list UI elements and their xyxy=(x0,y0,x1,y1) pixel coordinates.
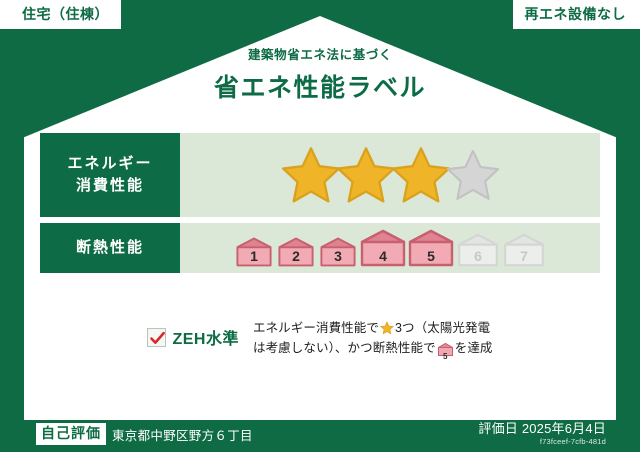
insulation-grade-number: 3 xyxy=(318,249,358,263)
energy-performance-value xyxy=(180,133,600,217)
evaluation-date-label: 評価日 xyxy=(478,421,518,436)
performance-rows: エネルギー 消費性能 断熱性能 1234567 xyxy=(40,133,600,279)
zeh-checkbox[interactable] xyxy=(147,328,166,347)
energy-label-line1: エネルギー xyxy=(67,153,152,175)
insulation-grade-number: 6 xyxy=(456,249,500,263)
insulation-grade-number: 4 xyxy=(360,249,406,263)
zeh-section: ZEH水準 エネルギー消費性能で3つ（太陽光発電 は考慮しない）、かつ断熱性能で… xyxy=(40,318,600,363)
renewable-energy-tag: 再エネ設備なし xyxy=(513,0,640,29)
evaluation-date-value: 2025年6月4日 xyxy=(522,421,606,436)
insulation-grade-number: 1 xyxy=(234,249,274,263)
energy-performance-row: エネルギー 消費性能 xyxy=(40,133,600,217)
zeh-description-line1: エネルギー消費性能で3つ（太陽光発電 xyxy=(253,318,493,338)
insulation-label-line1: 断熱性能 xyxy=(76,237,144,259)
energy-label-line2: 消費性能 xyxy=(76,175,144,197)
zeh-label: ZEH水準 xyxy=(172,325,239,349)
insulation-grade-5: 5 xyxy=(408,229,454,267)
star-filled-icon xyxy=(280,144,342,206)
building-type-tag: 住宅（住棟） xyxy=(0,0,121,29)
zeh-description: エネルギー消費性能で3つ（太陽光発電 は考慮しない）、かつ断熱性能で5を達成 xyxy=(253,318,493,363)
evaluation-date: 評価日 2025年6月4日 xyxy=(478,422,606,437)
zeh-desc-text-b: 3つ（太陽光発電 xyxy=(395,321,490,335)
zeh-title-group: ZEH水準 xyxy=(147,318,239,349)
inline-house-icon: 5 xyxy=(438,342,453,362)
insulation-grade-4: 4 xyxy=(360,229,406,267)
energy-performance-label: エネルギー 消費性能 xyxy=(40,133,180,217)
insulation-grade-number: 5 xyxy=(408,249,454,263)
insulation-grade-3: 3 xyxy=(318,237,358,267)
check-icon xyxy=(149,330,166,347)
title-subtitle: 建築物省エネ法に基づく xyxy=(0,44,640,63)
insulation-grade-7: 7 xyxy=(502,233,546,267)
star-empty-icon xyxy=(445,147,501,203)
insulation-grade-number: 2 xyxy=(276,249,316,263)
insulation-performance-row: 断熱性能 1234567 xyxy=(40,223,600,273)
insulation-grade-1: 1 xyxy=(234,237,274,267)
insulation-grade-2: 2 xyxy=(276,237,316,267)
property-address: 東京都中野区野方６丁目 xyxy=(112,425,253,444)
star-rating xyxy=(280,144,501,206)
zeh-desc-text-c: は考慮しない）、かつ断熱性能で xyxy=(253,341,436,355)
star-filled-icon xyxy=(390,144,452,206)
insulation-grade-scale: 1234567 xyxy=(234,229,546,267)
insulation-grade-number: 7 xyxy=(502,249,546,263)
evaluation-id: f73fceef-7cfb-481d xyxy=(478,438,606,447)
zeh-desc-text-a: エネルギー消費性能で xyxy=(253,321,379,335)
zeh-description-line2: は考慮しない）、かつ断熱性能で5を達成 xyxy=(253,338,493,362)
star-icon xyxy=(380,321,394,335)
zeh-desc-text-d: を達成 xyxy=(455,341,493,355)
insulation-grade-6: 6 xyxy=(456,233,500,267)
page-title: 省エネ性能ラベル xyxy=(0,68,640,104)
label-title-block: 建築物省エネ法に基づく 省エネ性能ラベル xyxy=(0,44,640,104)
star-filled-icon xyxy=(335,144,397,206)
evaluation-meta: 評価日 2025年6月4日 f73fceef-7cfb-481d xyxy=(478,422,606,447)
inline-house-grade: 5 xyxy=(438,353,453,361)
insulation-performance-label: 断熱性能 xyxy=(40,223,180,273)
label-footer: 自己評価 東京都中野区野方６丁目 評価日 2025年6月4日 f73fceef-… xyxy=(0,416,640,452)
self-evaluation-badge: 自己評価 xyxy=(36,423,106,444)
insulation-performance-value: 1234567 xyxy=(180,223,600,273)
